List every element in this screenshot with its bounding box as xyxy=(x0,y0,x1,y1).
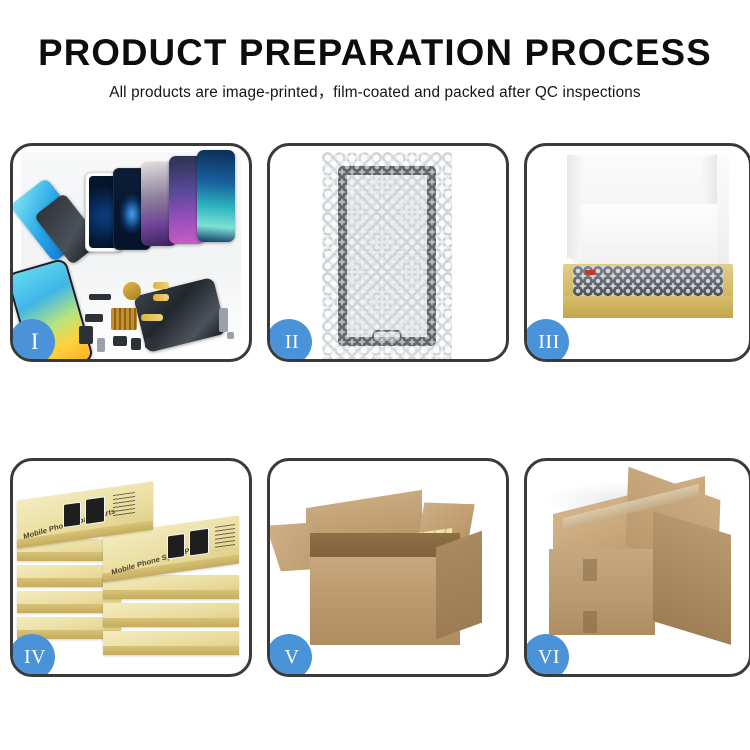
step-badge-2: II xyxy=(267,319,312,362)
step-badge-4: IV xyxy=(10,634,55,677)
step-panel-1[interactable]: I xyxy=(10,143,252,362)
step-badge-5: V xyxy=(267,634,312,677)
step-panel-6[interactable]: VI xyxy=(524,458,750,677)
page-subtitle: All products are image-printed，film-coat… xyxy=(0,83,750,103)
page-title: PRODUCT PREPARATION PROCESS xyxy=(4,33,747,73)
step-badge-6: VI xyxy=(524,634,569,677)
page-header: PRODUCT PREPARATION PROCESS All products… xyxy=(0,0,750,103)
step-panel-2[interactable]: II xyxy=(267,143,509,362)
step-badge-3: III xyxy=(524,319,569,362)
step-panel-5[interactable]: V xyxy=(267,458,509,677)
step-badge-1: I xyxy=(10,319,55,362)
step-panel-3[interactable]: III xyxy=(524,143,750,362)
process-step-grid: I II III xyxy=(10,143,740,677)
step-panel-4[interactable]: Mobile Phone Spare Parts Mobile Phone Sp… xyxy=(10,458,252,677)
